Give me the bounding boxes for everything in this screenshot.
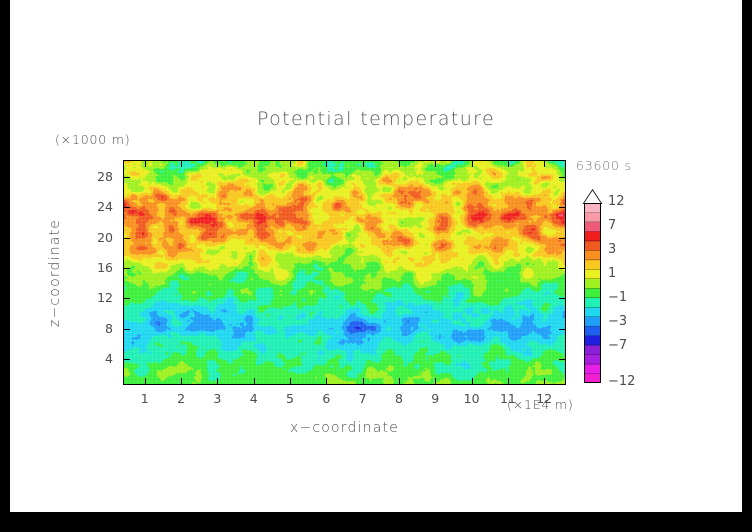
x-tick-mark bbox=[472, 378, 473, 385]
colorbar-tick-label: 1 bbox=[608, 266, 616, 281]
heatmap-field bbox=[123, 160, 566, 385]
x-tick-mark bbox=[363, 378, 364, 385]
y-tick-mark bbox=[559, 268, 566, 269]
colorbar-arrow-cap-icon bbox=[582, 189, 603, 204]
x-tick-mark bbox=[544, 378, 545, 385]
colorbar-tick-label: 12 bbox=[608, 194, 625, 209]
y-tick-label: 20 bbox=[83, 230, 113, 245]
x-tick-mark bbox=[326, 160, 327, 167]
y-tick-mark bbox=[559, 329, 566, 330]
y-tick-label: 16 bbox=[83, 260, 113, 275]
x-tick-mark bbox=[435, 378, 436, 385]
colorbar-tick-label: −1 bbox=[608, 290, 627, 305]
x-tick-label: 2 bbox=[166, 391, 196, 406]
y-tick-label: 4 bbox=[83, 351, 113, 366]
y-tick-mark bbox=[123, 329, 130, 330]
x-axis-label: x−coordinate bbox=[123, 420, 566, 436]
x-axis-unit-label: (×1E4 m) bbox=[507, 397, 574, 412]
y-tick-mark bbox=[559, 238, 566, 239]
x-tick-mark bbox=[181, 160, 182, 167]
y-axis-label: z−coordinate bbox=[47, 193, 63, 353]
page-title: Potential temperature bbox=[10, 108, 742, 130]
y-tick-label: 12 bbox=[83, 290, 113, 305]
x-tick-label: 4 bbox=[239, 391, 269, 406]
x-tick-mark bbox=[217, 378, 218, 385]
y-tick-mark bbox=[123, 298, 130, 299]
x-tick-mark bbox=[363, 160, 364, 167]
x-tick-mark bbox=[508, 378, 509, 385]
x-tick-mark bbox=[217, 160, 218, 167]
x-tick-mark bbox=[326, 378, 327, 385]
x-tick-mark bbox=[399, 378, 400, 385]
colorbar-tick-label: −7 bbox=[608, 338, 627, 353]
x-tick-mark bbox=[181, 378, 182, 385]
time-annotation: 63600 s bbox=[576, 158, 632, 173]
x-tick-mark bbox=[290, 160, 291, 167]
x-tick-mark bbox=[399, 160, 400, 167]
figure-frame: Potential temperature (×1000 m) 63600 s … bbox=[0, 0, 752, 532]
y-tick-mark bbox=[123, 177, 130, 178]
x-tick-mark bbox=[435, 160, 436, 167]
x-tick-mark bbox=[254, 160, 255, 167]
colorbar-tick-label: −3 bbox=[608, 314, 627, 329]
colorbar-tick-label: −12 bbox=[608, 374, 635, 389]
x-tick-mark bbox=[145, 160, 146, 167]
y-tick-mark bbox=[559, 177, 566, 178]
x-tick-mark bbox=[508, 160, 509, 167]
x-tick-label: 10 bbox=[457, 391, 487, 406]
x-tick-mark bbox=[290, 378, 291, 385]
y-tick-mark bbox=[123, 268, 130, 269]
x-tick-mark bbox=[254, 378, 255, 385]
x-tick-label: 6 bbox=[311, 391, 341, 406]
y-tick-mark bbox=[123, 207, 130, 208]
y-tick-mark bbox=[559, 207, 566, 208]
x-tick-label: 8 bbox=[384, 391, 414, 406]
x-tick-label: 5 bbox=[275, 391, 305, 406]
x-tick-mark bbox=[472, 160, 473, 167]
colorbar-tick-label: 3 bbox=[608, 242, 616, 257]
y-tick-label: 8 bbox=[83, 321, 113, 336]
x-tick-label: 1 bbox=[130, 391, 160, 406]
figure-canvas: Potential temperature (×1000 m) 63600 s … bbox=[10, 0, 742, 512]
y-tick-mark bbox=[559, 298, 566, 299]
x-tick-label: 7 bbox=[348, 391, 378, 406]
y-tick-mark bbox=[559, 359, 566, 360]
y-axis-unit-label: (×1000 m) bbox=[55, 132, 130, 147]
colorbar-tick-label: 7 bbox=[608, 218, 616, 233]
y-tick-mark bbox=[123, 238, 130, 239]
colorbar[interactable] bbox=[584, 203, 601, 383]
x-tick-label: 3 bbox=[202, 391, 232, 406]
x-tick-label: 9 bbox=[420, 391, 450, 406]
y-tick-label: 24 bbox=[83, 199, 113, 214]
x-tick-mark bbox=[145, 378, 146, 385]
plot-area[interactable] bbox=[123, 160, 566, 385]
x-tick-mark bbox=[544, 160, 545, 167]
y-tick-label: 28 bbox=[83, 169, 113, 184]
y-tick-mark bbox=[123, 359, 130, 360]
